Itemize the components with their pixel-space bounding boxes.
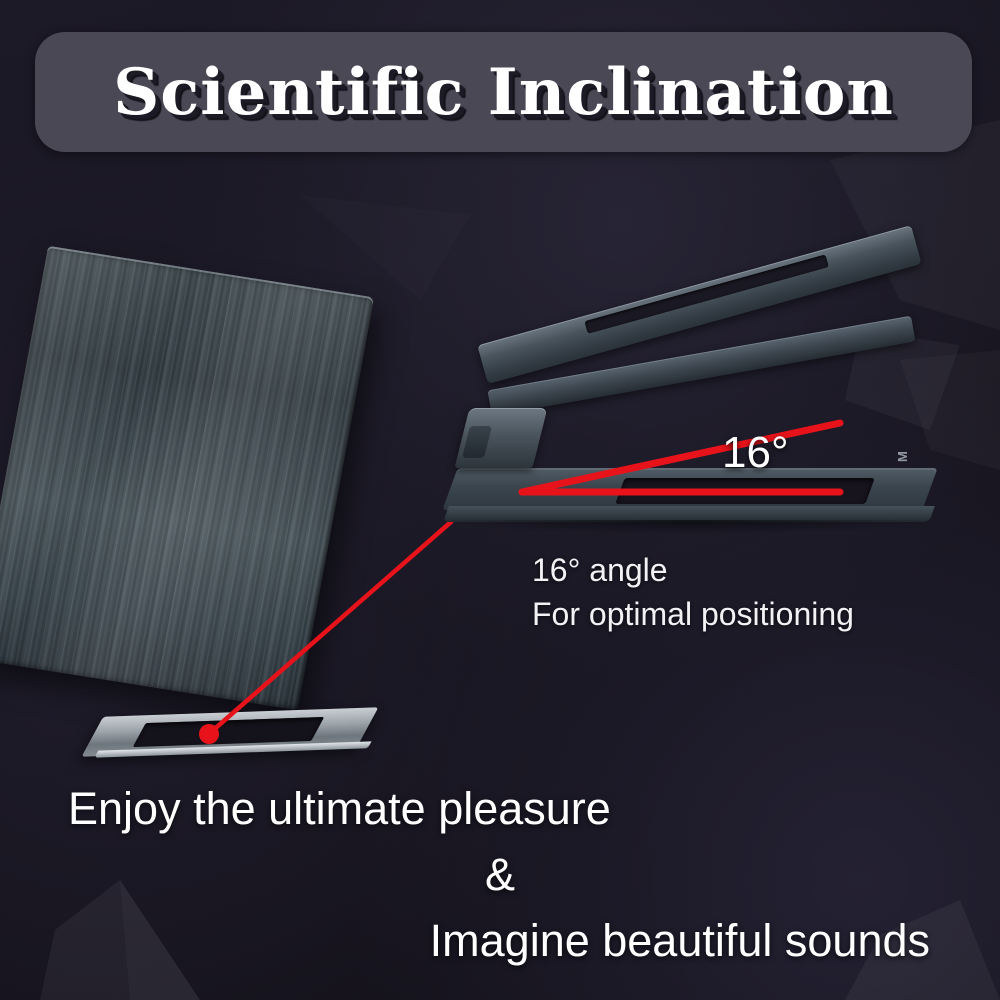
tagline-line-3: Imagine beautiful sounds <box>0 908 930 974</box>
angle-indicator <box>440 330 960 545</box>
tagline-line-1: Enjoy the ultimate pleasure <box>68 776 1000 842</box>
folding-stand-diagram: M 16° <box>440 330 960 545</box>
caption-line-1: 16° angle <box>532 548 962 592</box>
diagram-caption: 16° angle For optimal positioning <box>532 548 962 636</box>
tagline-ampersand: & <box>0 842 1000 908</box>
caption-line-2: For optimal positioning <box>532 592 962 636</box>
angle-value-label: 16° <box>722 428 789 478</box>
product-feature-image: Scientific Inclination M 16° <box>0 0 1000 1000</box>
tagline-block: Enjoy the ultimate pleasure & Imagine be… <box>0 776 1000 974</box>
